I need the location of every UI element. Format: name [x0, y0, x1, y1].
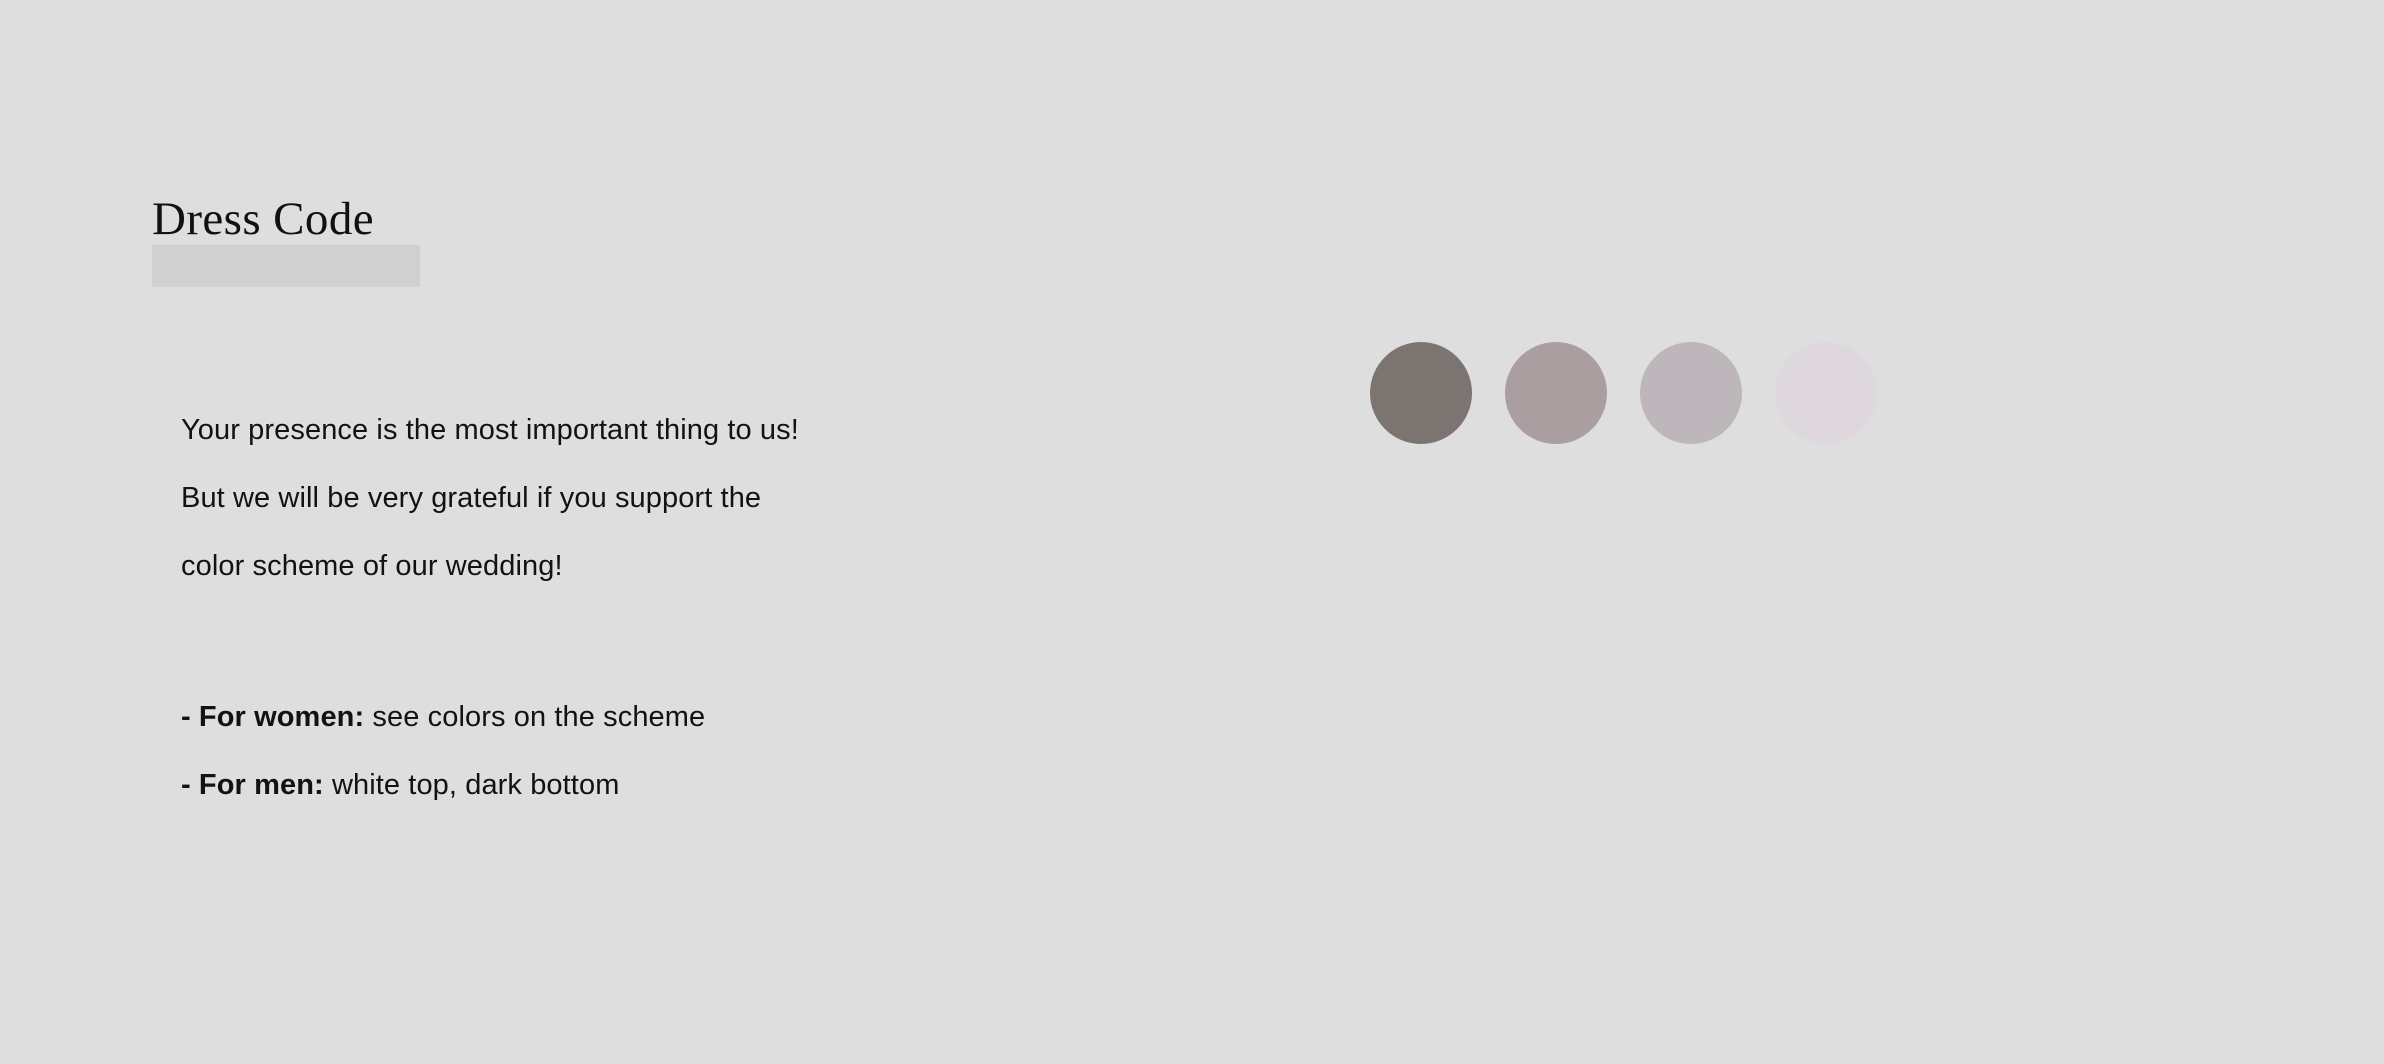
guideline-value: white top, dark bottom	[324, 769, 620, 801]
guideline-value: see colors on the scheme	[364, 701, 705, 733]
color-scheme-palette	[1370, 342, 1877, 444]
dress-code-guidelines: - For women: see colors on the scheme - …	[181, 683, 1161, 819]
color-swatch-lilac-gray	[1640, 342, 1742, 444]
guideline-label: - For men:	[181, 769, 324, 801]
page-title: Dress Code	[152, 196, 374, 243]
color-swatch-dark-taupe	[1370, 342, 1472, 444]
guideline-label: - For women:	[181, 701, 364, 733]
paragraph-line: color scheme of our wedding!	[181, 532, 1161, 600]
description-paragraph: Your presence is the most important thin…	[181, 396, 1161, 600]
section-heading: Dress Code	[152, 196, 374, 243]
dress-code-section: Dress Code Your presence is the most imp…	[0, 0, 2384, 1064]
color-swatch-mauve-gray	[1505, 342, 1607, 444]
list-item: - For men: white top, dark bottom	[181, 751, 1161, 819]
color-swatch-pale-lavender	[1775, 342, 1877, 444]
dress-code-description: Your presence is the most important thin…	[181, 396, 1161, 600]
heading-highlight-bar	[152, 245, 420, 287]
list-item: - For women: see colors on the scheme	[181, 683, 1161, 751]
paragraph-line: But we will be very grateful if you supp…	[181, 464, 1161, 532]
paragraph-line: Your presence is the most important thin…	[181, 396, 1161, 464]
